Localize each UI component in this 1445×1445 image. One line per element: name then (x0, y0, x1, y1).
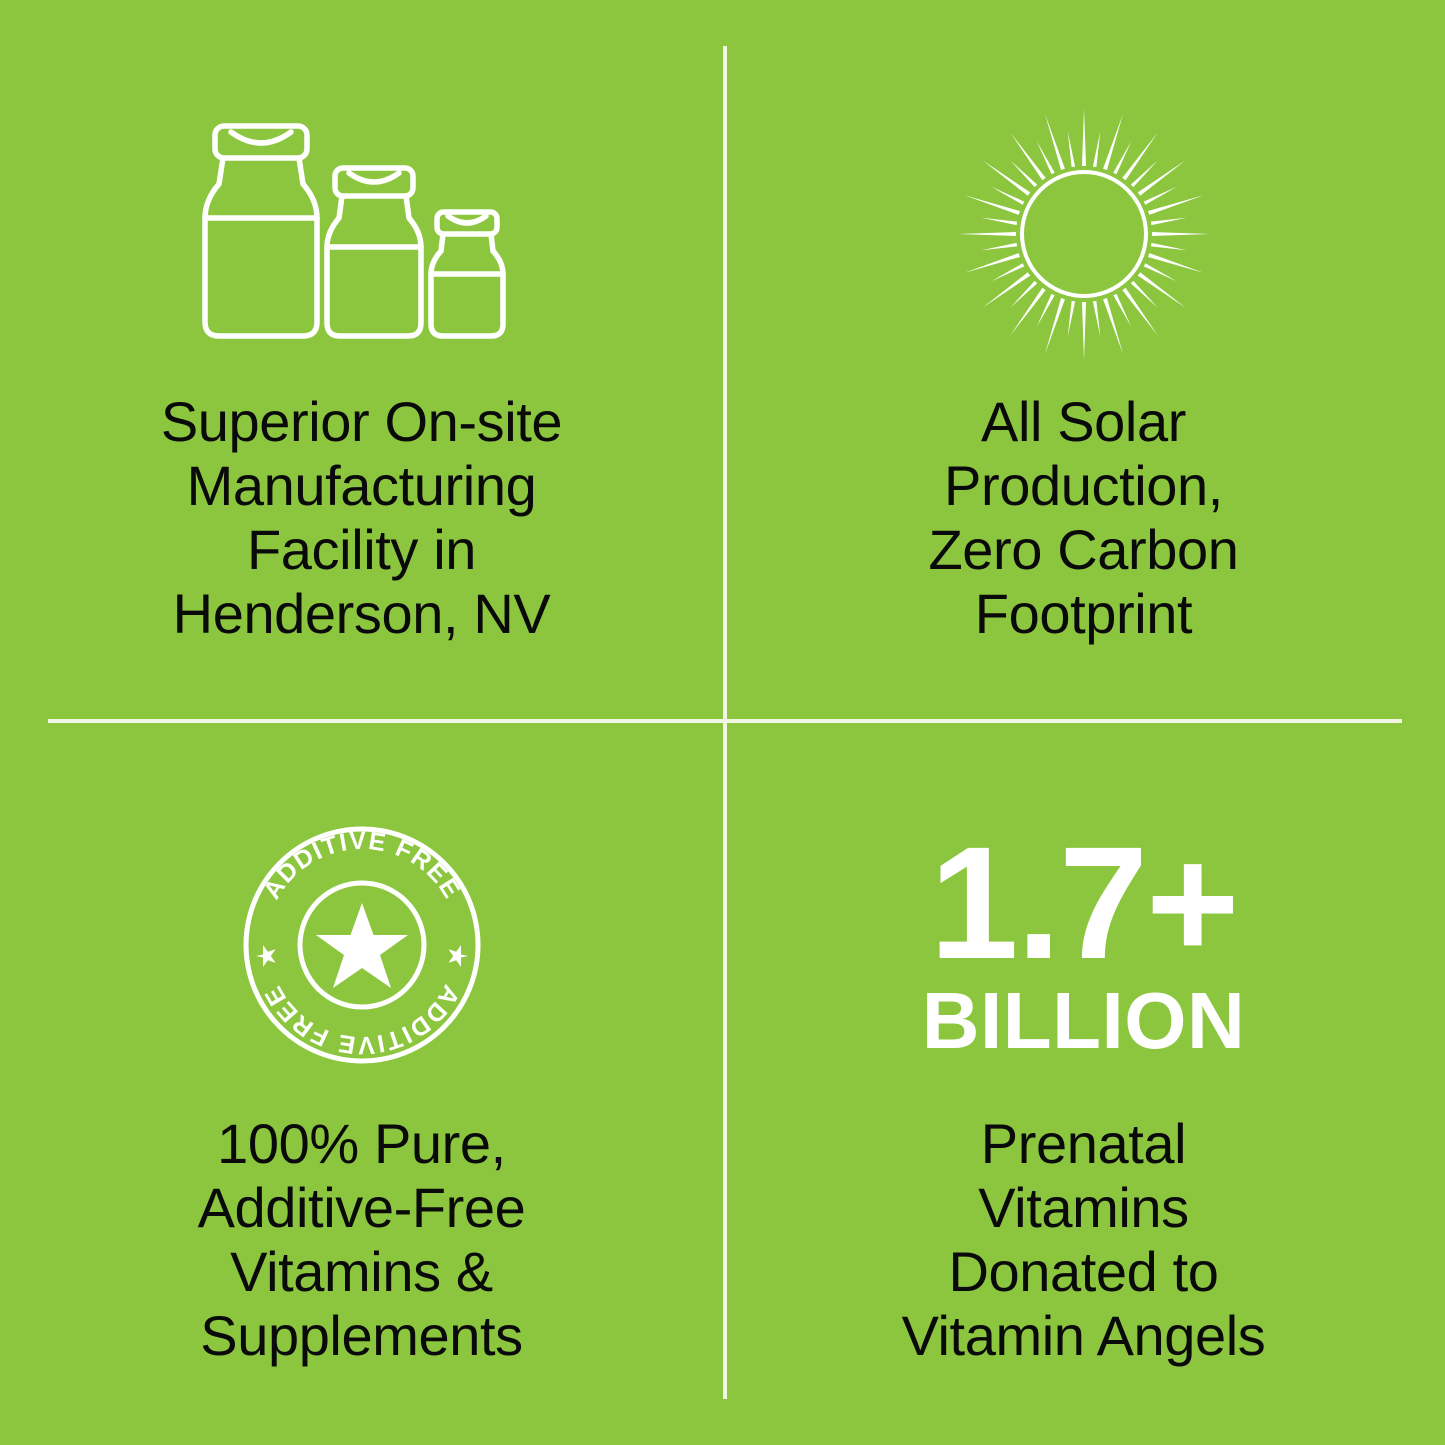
quadrant-manufacturing: Superior On-site Manufacturing Facility … (0, 0, 723, 722)
svg-text:ADDITIVE FREE: ADDITIVE FREE (258, 980, 464, 1059)
stat-number: 1.7+ (930, 829, 1238, 976)
quadrant-additive-free: ADDITIVE FREE ADDITIVE FREE 100% Pure, A… (0, 722, 723, 1444)
sun-icon (954, 100, 1214, 368)
quadrant-caption: All Solar Production, Zero Carbon Footpr… (929, 390, 1239, 646)
quadrant-solar: All Solar Production, Zero Carbon Footpr… (722, 0, 1445, 722)
additive-free-badge-icon: ADDITIVE FREE ADDITIVE FREE (242, 820, 482, 1070)
quadrant-caption: 100% Pure, Additive-Free Vitamins & Supp… (198, 1112, 526, 1368)
quadrant-caption: Superior On-site Manufacturing Facility … (161, 390, 562, 646)
quadrant-caption: Prenatal Vitamins Donated to Vitamin Ang… (902, 1112, 1266, 1368)
benefits-grid: Superior On-site Manufacturing Facility … (0, 0, 1445, 1445)
bottles-icon (197, 100, 527, 368)
quadrant-donations: 1.7+ BILLION Prenatal Vitamins Donated t… (722, 722, 1445, 1444)
stat-unit: BILLION (922, 981, 1245, 1061)
badge-text-bottom: ADDITIVE FREE (258, 980, 464, 1059)
svg-text:ADDITIVE FREE: ADDITIVE FREE (257, 827, 465, 904)
stat-block: 1.7+ BILLION (922, 820, 1245, 1070)
badge-text-top: ADDITIVE FREE (257, 827, 465, 904)
